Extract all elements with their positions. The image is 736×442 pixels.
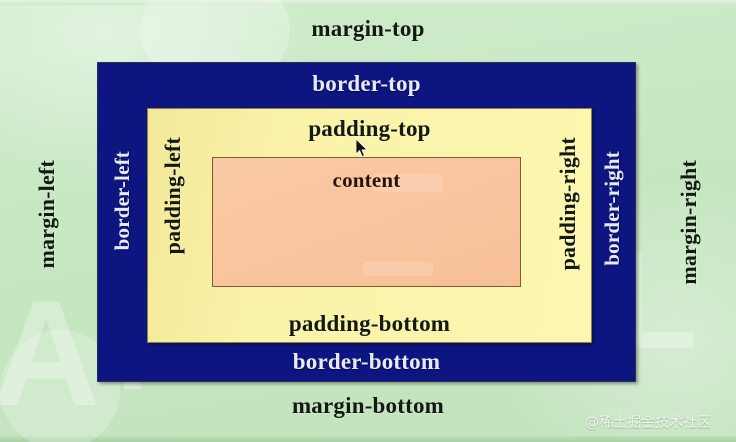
padding-top-label: padding-top bbox=[148, 116, 591, 142]
margin-left-label: margin-left bbox=[34, 160, 60, 269]
border-box-region: border-top border-bottom border-left bor… bbox=[97, 62, 636, 382]
site-watermark: @稀土掘金技术社区 bbox=[585, 412, 711, 432]
box-model-diagram: A T L 得 margin-top margin-bottom margin-… bbox=[0, 0, 736, 442]
margin-right-label: margin-right bbox=[676, 160, 702, 285]
border-right-label: border-right bbox=[600, 151, 625, 266]
border-top-label: border-top bbox=[98, 71, 635, 97]
padding-bottom-label: padding-bottom bbox=[148, 311, 591, 337]
padding-box-region: padding-top padding-bottom padding-left … bbox=[147, 108, 592, 343]
content-highlight bbox=[363, 262, 433, 276]
content-box-region: content bbox=[212, 157, 521, 287]
padding-right-label: padding-right bbox=[555, 137, 581, 270]
border-left-label: border-left bbox=[110, 151, 135, 250]
top-edge-strip bbox=[0, 0, 736, 5]
margin-top-label: margin-top bbox=[0, 16, 736, 42]
content-label: content bbox=[213, 168, 520, 193]
padding-left-label: padding-left bbox=[160, 137, 186, 254]
bottom-edge-strip bbox=[0, 436, 736, 442]
border-bottom-label: border-bottom bbox=[98, 349, 635, 375]
